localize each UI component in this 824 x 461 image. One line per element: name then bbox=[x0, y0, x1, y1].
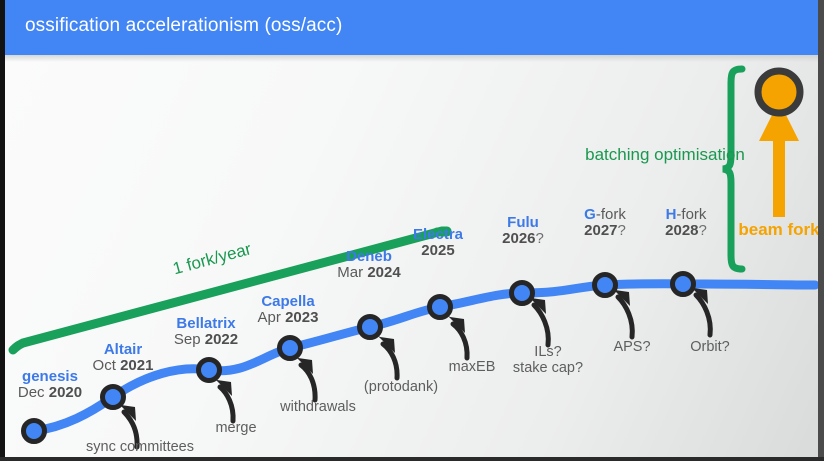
milestone-year: 2026 bbox=[502, 230, 535, 247]
milestone-date: 2025 bbox=[413, 243, 463, 259]
milestone-year: 2023 bbox=[285, 309, 318, 326]
milestone-label-fulu: Fulu 2026? bbox=[502, 215, 544, 247]
milestone-label-g-fork: G-fork 2027? bbox=[584, 207, 626, 239]
milestone-year: 2027 bbox=[584, 222, 617, 239]
milestone-name: Capella bbox=[258, 294, 319, 310]
milestone-label-deneb: Deneb Mar 2024 bbox=[337, 249, 400, 281]
milestone-date: 2027? bbox=[584, 223, 626, 239]
milestone-date: 2028? bbox=[665, 223, 707, 239]
milestone-label-genesis: genesis Dec 2020 bbox=[18, 369, 82, 401]
annotation-maxeb: maxEB bbox=[449, 360, 496, 376]
annotation-sync-committees: sync committees bbox=[86, 440, 194, 456]
beam-fork-label: beam fork bbox=[738, 219, 818, 241]
milestone-date: 2026? bbox=[502, 231, 544, 247]
batching-line-2: optimisation bbox=[654, 145, 745, 164]
milestone-uncertain: ? bbox=[536, 230, 544, 247]
slide-edge-left bbox=[0, 0, 5, 461]
annotation-protodank: (protodank) bbox=[364, 380, 438, 396]
milestone-uncertain: ? bbox=[699, 222, 707, 239]
annotation-withdrawals: withdrawals bbox=[280, 400, 356, 416]
milestone-year: 2021 bbox=[120, 357, 153, 374]
milestone-name: Fulu bbox=[502, 215, 544, 231]
milestone-date: Mar 2024 bbox=[337, 265, 400, 281]
slide-screenshot: ossification accelerationism (oss/acc) bbox=[0, 0, 824, 461]
slide-edge-bottom bbox=[0, 457, 824, 461]
beam-fork-arrow bbox=[759, 101, 799, 217]
milestone-name: Deneb bbox=[337, 249, 400, 265]
milestone-year: 2025 bbox=[421, 242, 454, 259]
slide-canvas: genesis Dec 2020 Altair Oct 2021 Bellatr… bbox=[5, 55, 818, 457]
milestone-month: Dec bbox=[18, 384, 45, 401]
milestone-uncertain: ? bbox=[618, 222, 626, 239]
milestone-year: 2020 bbox=[49, 384, 82, 401]
page-title: ossification accelerationism (oss/acc) bbox=[25, 15, 342, 37]
milestone-date: Oct 2021 bbox=[93, 358, 154, 374]
milestone-month: Mar bbox=[337, 264, 363, 281]
milestone-label-h-fork: H-fork 2028? bbox=[665, 207, 707, 239]
milestone-name: Altair bbox=[93, 342, 154, 358]
timeline-diagram bbox=[5, 55, 818, 457]
milestone-year: 2022 bbox=[205, 331, 238, 348]
milestone-year: 2028 bbox=[665, 222, 698, 239]
milestone-name: Electra bbox=[413, 227, 463, 243]
annotation-merge: merge bbox=[215, 421, 256, 437]
beam-fork-node[interactable] bbox=[758, 71, 800, 113]
milestone-date: Sep 2022 bbox=[174, 332, 238, 348]
milestone-name: genesis bbox=[18, 369, 82, 385]
milestone-year: 2024 bbox=[367, 264, 400, 281]
batching-optimisation-label: batching optimisation bbox=[585, 144, 745, 167]
milestone-name: G-fork bbox=[584, 207, 626, 223]
slide-title-bar: ossification accelerationism (oss/acc) bbox=[0, 0, 824, 55]
milestone-label-bellatrix: Bellatrix Sep 2022 bbox=[174, 316, 238, 348]
annotation-orbit: Orbit? bbox=[690, 340, 730, 356]
milestone-month: Sep bbox=[174, 331, 201, 348]
milestone-label-electra: Electra 2025 bbox=[413, 227, 463, 259]
milestone-name: H-fork bbox=[665, 207, 707, 223]
beam-fork-line-2: fork bbox=[788, 220, 818, 239]
milestone-name: Bellatrix bbox=[174, 316, 238, 332]
beam-fork-line-1: beam bbox=[738, 220, 782, 239]
milestone-name-suffix: -fork bbox=[676, 206, 706, 223]
milestone-month: Oct bbox=[93, 357, 116, 374]
milestone-date: Apr 2023 bbox=[258, 310, 319, 326]
milestone-label-altair: Altair Oct 2021 bbox=[93, 342, 154, 374]
slide-edge-right bbox=[818, 0, 824, 461]
annotation-aps: APS? bbox=[613, 340, 650, 356]
batching-line-1: batching bbox=[585, 145, 649, 164]
annotation-ils-stake-cap: ILs? stake cap? bbox=[513, 345, 583, 376]
milestone-date: Dec 2020 bbox=[18, 385, 82, 401]
milestone-label-capella: Capella Apr 2023 bbox=[258, 294, 319, 326]
milestone-name-suffix: -fork bbox=[596, 206, 626, 223]
milestone-month: Apr bbox=[258, 309, 281, 326]
